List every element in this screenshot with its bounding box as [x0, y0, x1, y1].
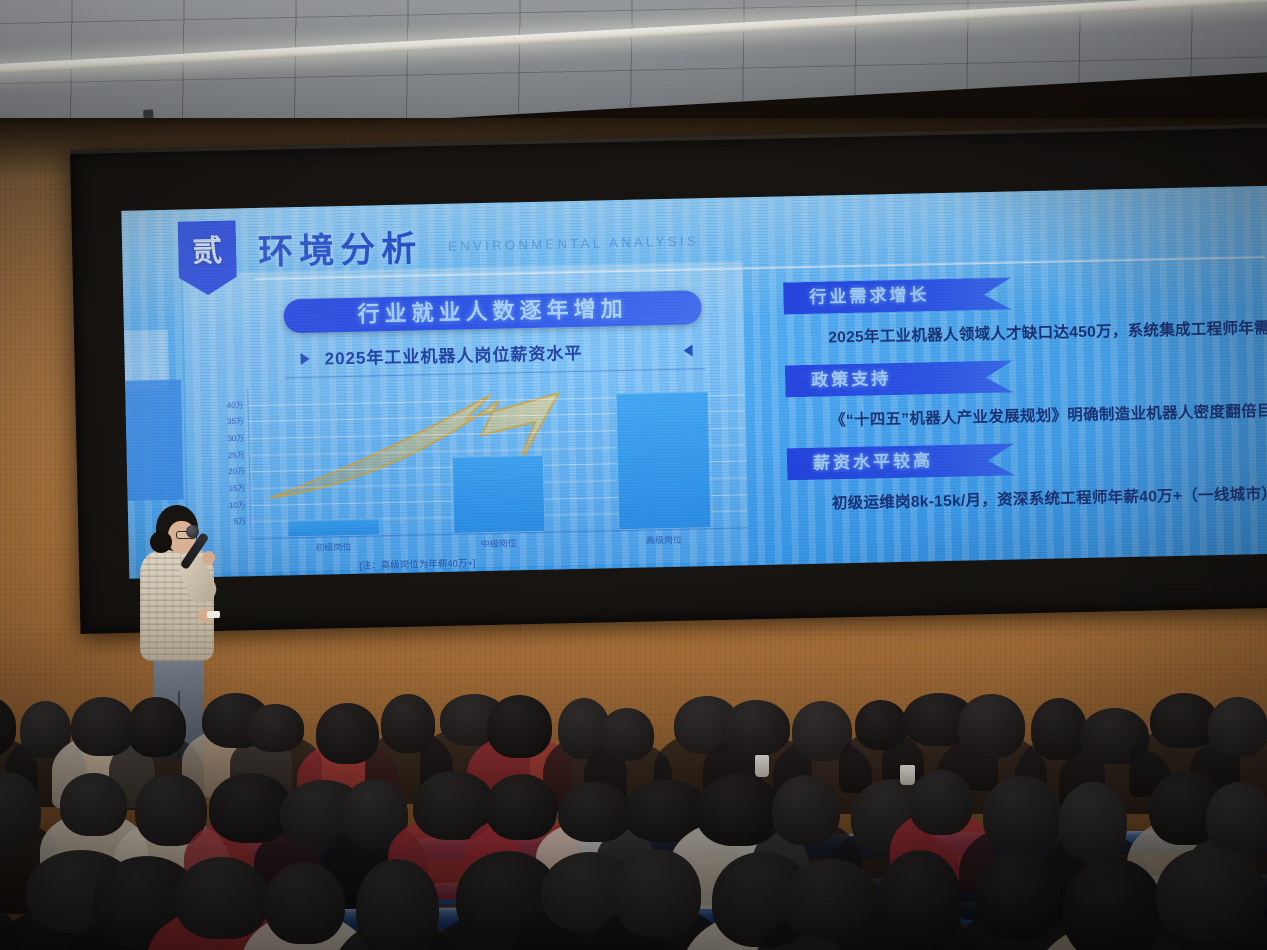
audience-member-head — [976, 850, 1060, 940]
audience-member-head — [878, 850, 962, 950]
audience-member-head — [983, 776, 1062, 853]
audience-member-head — [175, 857, 269, 939]
audience-member-head — [723, 700, 790, 755]
audience-member-head — [486, 774, 558, 839]
cup-icon — [900, 765, 915, 785]
audience-member-head — [600, 708, 654, 761]
audience-member-head — [60, 773, 127, 835]
auditorium-photo: 贰 环境分析 ENVIRONMENTAL ANALYSIS 行业就业人数逐年增加… — [0, 0, 1267, 950]
audience-member-head — [127, 697, 186, 757]
audience-member-head — [1059, 782, 1127, 860]
audience-member-head — [958, 694, 1025, 758]
audience-member-head — [265, 862, 346, 944]
audience-member-head — [487, 695, 552, 758]
audience-member-head — [772, 775, 840, 846]
audience-member-head — [1156, 847, 1266, 940]
audience-member-head — [356, 859, 439, 950]
audience-member-head — [784, 859, 878, 940]
audience-member-head — [909, 770, 973, 836]
audience — [0, 0, 1267, 950]
audience-member-head — [614, 849, 701, 937]
audience-member-head — [1208, 697, 1267, 756]
audience-member-head — [1206, 782, 1267, 855]
cup-icon — [755, 755, 769, 777]
audience-member-head — [247, 704, 304, 752]
